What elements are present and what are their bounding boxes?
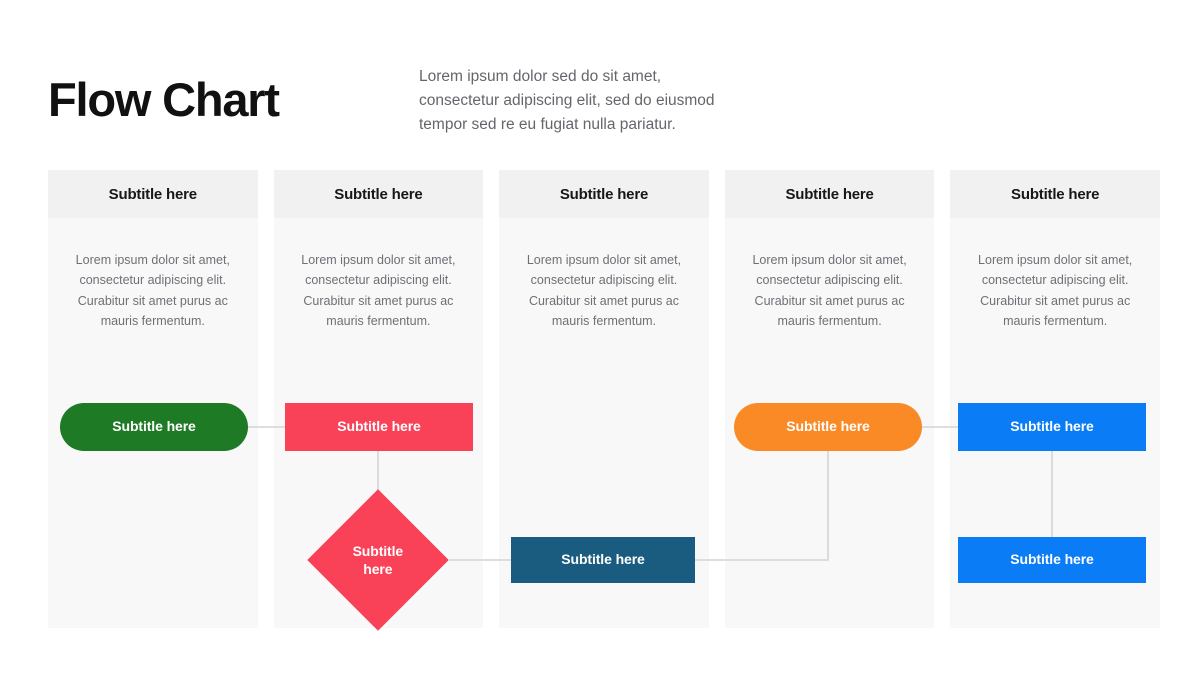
flow-node-orange[interactable]: Subtitle here bbox=[734, 403, 922, 451]
slide-canvas: Flow Chart Lorem ipsum dolor sed do sit … bbox=[0, 0, 1200, 675]
node-layer: Subtitle here Subtitle here Subtitle her… bbox=[0, 0, 1200, 675]
flow-node-diamond-decision[interactable]: Subtitle here bbox=[307, 489, 448, 630]
flow-node-teal[interactable]: Subtitle here bbox=[511, 537, 695, 583]
flow-node-orange-label: Subtitle here bbox=[786, 418, 870, 436]
flow-node-blue-bottom[interactable]: Subtitle here bbox=[958, 537, 1146, 583]
flow-node-green-label: Subtitle here bbox=[112, 418, 196, 436]
flow-node-blue-top[interactable]: Subtitle here bbox=[958, 403, 1146, 451]
flow-node-blue-bottom-label: Subtitle here bbox=[1010, 551, 1094, 569]
flow-node-blue-top-label: Subtitle here bbox=[1010, 418, 1094, 436]
flow-node-pink-label: Subtitle here bbox=[337, 418, 421, 436]
flow-node-diamond-label: Subtitle here bbox=[353, 543, 404, 578]
flow-node-teal-label: Subtitle here bbox=[561, 551, 645, 569]
flow-node-pink[interactable]: Subtitle here bbox=[285, 403, 473, 451]
flow-node-green[interactable]: Subtitle here bbox=[60, 403, 248, 451]
